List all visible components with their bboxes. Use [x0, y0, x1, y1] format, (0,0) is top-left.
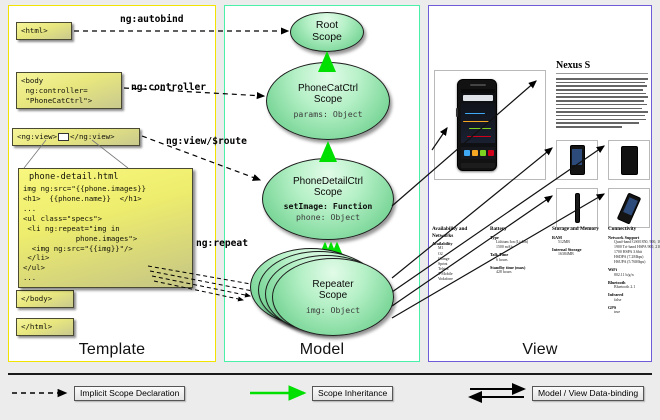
scope-detail-attr-setimage: setImage: Function: [284, 201, 373, 211]
scope-detail-attrs: setImage: Functionphone: Object: [284, 201, 373, 222]
code-box-body-close: </body>: [16, 290, 74, 308]
view-product-title: Nexus S: [556, 60, 590, 71]
scope-cat-line1: PhoneCatCtrl: [298, 83, 358, 94]
spec-column-battery: Battery Type Lithium Ion (Li-Ion) 1500 m…: [490, 226, 542, 275]
code-box-ng-view: <ng:view></ng:view>: [12, 128, 140, 146]
legend-icon-slot-1: [10, 386, 68, 400]
phone-dock: [461, 147, 495, 159]
dock-icon-2: [472, 150, 478, 156]
spec-column-connectivity: Connectivity Network Support Quad-band G…: [608, 226, 660, 315]
phone-statusbar: [461, 89, 495, 93]
spec-value-1-1-0: 6 hours: [490, 258, 542, 263]
scope-cat-line2: Scope: [314, 94, 342, 105]
thumb-phone-front: [570, 145, 585, 175]
view-title-rule: [556, 73, 648, 74]
legend-divider: [8, 373, 652, 375]
ng-view-close-tag: </ng:view>: [70, 132, 115, 141]
connector-label-controller: ng:controller: [131, 82, 206, 93]
spec-header-1: Battery: [490, 226, 542, 233]
ng-view-placeholder-icon: [58, 133, 69, 141]
thumbnail-2[interactable]: [608, 140, 650, 180]
panel-model-label: Model: [225, 341, 419, 359]
spec-value-3-4-0: true: [608, 310, 660, 315]
view-spec-table: Availability and Networks Availability M…: [432, 226, 648, 330]
dock-icon-1: [464, 150, 470, 156]
spec-value-3-2-0: Bluetooth 2.1: [608, 285, 660, 290]
scope-cat-attr-params: params: Object: [293, 109, 362, 119]
code-box-html-open: <html>: [16, 22, 72, 40]
legend-item-scope-inheritance: Scope Inheritance: [248, 385, 393, 401]
spec-value-0-0-6: Vodafone: [432, 277, 480, 282]
code-box-body-open: <body ng:controller= "PhoneCatCtrl">: [16, 72, 122, 109]
wallpaper-streak-green: [469, 128, 491, 129]
scope-rep-line2: Scope: [319, 290, 347, 301]
spec-value-2-1-0: 16384MB: [552, 252, 604, 257]
thumbnail-3[interactable]: [556, 188, 598, 228]
scope-repeater: Repeater Scope img: Object: [272, 258, 394, 336]
spec-value-3-3-0: false: [608, 298, 660, 303]
ng-view-open-tag: <ng:view>: [17, 132, 57, 141]
legend-item-implicit-scope: Implicit Scope Declaration: [10, 385, 185, 401]
connector-label-autobind: ng:autobind: [120, 14, 184, 25]
view-phone-image-card: [434, 70, 546, 180]
scope-root-line2: Scope: [312, 32, 342, 44]
spec-header-0: Availability and Networks: [432, 226, 480, 239]
spec-value-1-2-0: 428 hours: [490, 270, 542, 275]
partial-template-code: img ng:src="{{phone.images}} <h1> {{phon…: [23, 184, 188, 283]
phone-side-button: [456, 108, 458, 117]
spec-column-storage: Storage and Memory RAM 512MB Internal St…: [552, 226, 604, 258]
partial-template-note: phone-detail.html img ng:src="{{phone.im…: [18, 168, 193, 288]
legend-label-data-binding: Model / View Data-binding: [532, 386, 644, 401]
legend-label-implicit-scope: Implicit Scope Declaration: [74, 386, 185, 401]
phone-device-image: [457, 79, 497, 171]
scope-detail-line2: Scope: [314, 187, 342, 198]
phone-wallpaper: [461, 103, 495, 143]
scope-phonedetailctrl: PhoneDetailCtrl Scope setImage: Function…: [262, 158, 394, 240]
panel-view-label: View: [429, 341, 651, 359]
dock-icon-3: [480, 150, 486, 156]
spec-value-3-1-0: 802.11 b/g/n: [608, 273, 660, 278]
scope-detail-line1: PhoneDetailCtrl: [293, 176, 363, 187]
panel-template-label: Template: [9, 341, 215, 359]
phone-searchbar: [463, 95, 493, 101]
code-box-html-close: </html>: [16, 318, 74, 336]
wallpaper-streak-red: [467, 136, 491, 137]
thumbnail-1[interactable]: [556, 140, 598, 180]
spec-value-3-0-2: HSUPA (5.76Mbps): [608, 260, 660, 265]
scope-detail-attr-phone: phone: Object: [296, 212, 360, 222]
thumb-phone-angled: [617, 192, 642, 224]
legend-label-scope-inheritance: Scope Inheritance: [312, 386, 393, 401]
wallpaper-streak-blue: [465, 113, 485, 114]
scope-root: Root Scope: [290, 12, 364, 52]
scope-rep-line1: Repeater: [312, 279, 353, 290]
spec-header-2: Storage and Memory: [552, 226, 604, 233]
wallpaper-streak-orange: [463, 121, 489, 122]
phone-earpiece: [470, 84, 486, 86]
scope-rep-attr-img: img: Object: [306, 305, 360, 315]
view-description-text: [556, 78, 648, 130]
thumb-phone-edge: [575, 193, 580, 223]
legend-icon-slot-3: [468, 386, 526, 400]
spec-value-2-0-0: 512MB: [552, 240, 604, 245]
partial-template-filename: phone-detail.html: [23, 171, 188, 184]
scope-phonecatctrl: PhoneCatCtrl Scope params: Object: [266, 62, 390, 140]
spec-value-1-0-1: 1500 mAh: [490, 245, 542, 250]
thumb-phone-back: [621, 146, 638, 175]
legend-item-data-binding: Model / View Data-binding: [468, 385, 644, 401]
phone-nav-buttons: [461, 163, 495, 168]
spec-value-3-0-0: Quad-band GSM 850, 900, 1800, 1900 Tri-b…: [608, 240, 660, 255]
thumbnail-4[interactable]: [608, 188, 650, 228]
spec-column-availability: Availability and Networks Availability M…: [432, 226, 480, 282]
connector-label-repeat: ng:repeat: [196, 238, 248, 249]
dock-icon-4: [488, 150, 494, 156]
connector-label-route: ng:view/$route: [166, 136, 247, 147]
spec-header-3: Connectivity: [608, 226, 660, 233]
phone-screen: [461, 89, 495, 159]
legend-icon-slot-2: [248, 386, 306, 400]
